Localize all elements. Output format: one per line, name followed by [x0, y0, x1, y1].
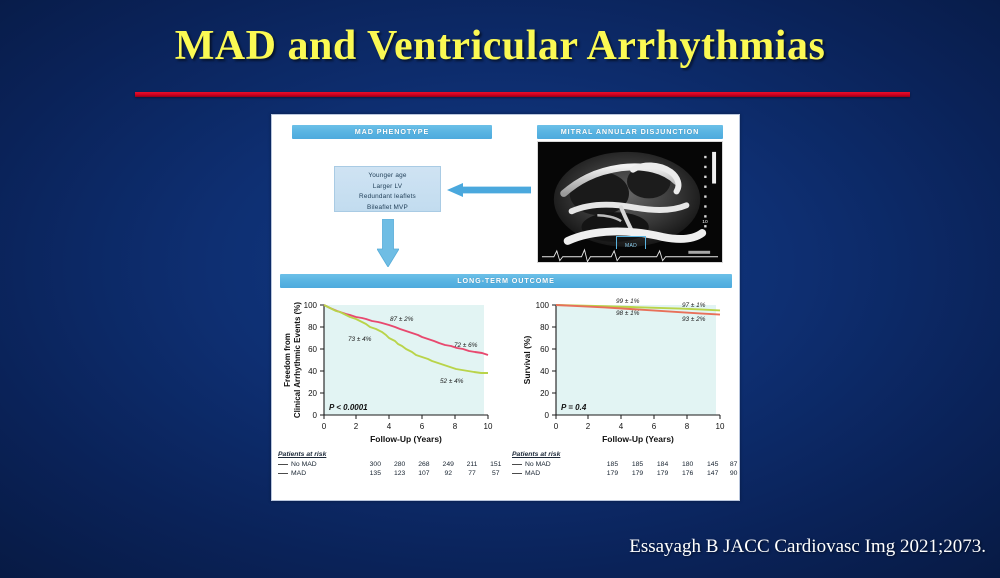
page-title: MAD and Ventricular Arrhythmias: [0, 22, 1000, 70]
legend-dash-no-mad-icon: [278, 464, 288, 465]
risk-cell: 135: [363, 469, 387, 478]
y-tick-0: 0: [313, 411, 318, 420]
x-tick-4: 4: [387, 422, 392, 431]
band-long-term-outcome: LONG-TERM OUTCOME: [280, 274, 732, 288]
phenotype-line-1: Younger age: [335, 171, 440, 182]
x-tick-10: 10: [484, 422, 493, 431]
band-mitral-annular-disjunction: MITRAL ANNULAR DISJUNCTION: [537, 125, 723, 139]
risk-table-title: Patients at risk: [276, 451, 508, 458]
risk-table: No MAD 300 280 268 249 211 151 MAD 135 1…: [276, 460, 508, 478]
x-tick-8: 8: [685, 422, 690, 431]
phenotype-line-2: Larger LV: [335, 182, 440, 193]
y-tick-40: 40: [308, 367, 317, 376]
label-no-mad-mid: 99 ± 1%: [616, 298, 640, 305]
x-tick-8: 8: [453, 422, 458, 431]
x-tick-6: 6: [652, 422, 657, 431]
risk-cell: 179: [600, 469, 625, 478]
risk-cell: 185: [600, 460, 625, 469]
y-axis-label: Survival (%): [522, 336, 532, 385]
risk-cell: 151: [484, 460, 508, 469]
x-tick-2: 2: [586, 422, 591, 431]
risk-cell: 300: [363, 460, 387, 469]
risk-cell: 184: [650, 460, 675, 469]
risk-cell: 77: [460, 469, 483, 478]
y-tick-20: 20: [308, 389, 317, 398]
y-tick-0: 0: [545, 411, 550, 420]
risk-row-label: No MAD: [291, 461, 317, 468]
y-tick-80: 80: [308, 323, 317, 332]
label-mad-mid: 73 ± 4%: [348, 336, 372, 343]
band-mad-phenotype: MAD PHENOTYPE: [292, 125, 492, 139]
label-mad-mid: 98 ± 1%: [616, 310, 640, 317]
x-tick-2: 2: [354, 422, 359, 431]
x-tick-0: 0: [554, 422, 559, 431]
y-tick-80: 80: [540, 323, 549, 332]
risk-cell: 185: [625, 460, 650, 469]
title-divider-rule: [135, 92, 910, 97]
x-tick-10: 10: [716, 422, 725, 431]
risk-cell: 176: [675, 469, 700, 478]
legend-dash-mad-icon: [278, 473, 288, 474]
label-mad-end: 93 ± 2%: [682, 316, 706, 323]
figure-panel: MAD PHENOTYPE MITRAL ANNULAR DISJUNCTION…: [271, 114, 740, 501]
x-axis-label: Follow-Up (Years): [602, 434, 674, 444]
patients-at-risk-right: Patients at risk No MAD 185 185 184 180 …: [510, 451, 740, 478]
echocardiogram-image: 10 MAD: [537, 141, 723, 263]
risk-cell: 179: [650, 469, 675, 478]
risk-cell: 107: [412, 469, 436, 478]
phenotype-line-3: Redundant leaflets: [335, 192, 440, 203]
table-row: MAD 135 123 107 92 77 57: [276, 469, 508, 478]
risk-row-label: No MAD: [525, 461, 551, 468]
table-row: MAD 179 179 179 176 147 90: [510, 469, 740, 478]
phenotype-line-4: Bileaflet MVP: [335, 203, 440, 214]
arrow-down-icon: [377, 219, 399, 267]
table-row: No MAD 300 280 268 249 211 151: [276, 460, 508, 469]
risk-cell: 145: [700, 460, 725, 469]
p-value-annotation: P = 0.4: [561, 403, 587, 412]
risk-table-title: Patients at risk: [510, 451, 740, 458]
arrow-left-icon: [447, 183, 531, 197]
risk-cell: 179: [625, 469, 650, 478]
echo-depth-label: 10: [702, 219, 708, 225]
risk-cell: 90: [725, 469, 740, 478]
y-tick-100: 100: [536, 301, 550, 310]
risk-cell: 92: [436, 469, 460, 478]
risk-row-label: MAD: [525, 470, 540, 477]
risk-cell: 180: [675, 460, 700, 469]
legend-dash-no-mad-icon: [512, 464, 522, 465]
echo-mad-annotation: MAD: [616, 236, 646, 249]
x-tick-0: 0: [322, 422, 327, 431]
x-tick-6: 6: [420, 422, 425, 431]
y-tick-100: 100: [304, 301, 318, 310]
x-tick-4: 4: [619, 422, 624, 431]
y-tick-60: 60: [540, 345, 549, 354]
chart-freedom-from-arrhythmic-events: 100 80 60 40 20 0 0 2 4 6 8 10 Follow-Up…: [278, 297, 502, 445]
label-no-mad-mid: 87 ± 2%: [390, 316, 414, 323]
label-no-mad-end: 97 ± 1%: [682, 302, 706, 309]
y-tick-60: 60: [308, 345, 317, 354]
legend-dash-mad-icon: [512, 473, 522, 474]
patients-at-risk-left: Patients at risk No MAD 300 280 268 249 …: [276, 451, 508, 478]
risk-cell: 123: [387, 469, 411, 478]
table-row: No MAD 185 185 184 180 145 87: [510, 460, 740, 469]
y-tick-40: 40: [540, 367, 549, 376]
risk-cell: 211: [460, 460, 483, 469]
chart-survival: 100 80 60 40 20 0 0 2 4 6 8 10 Follow-Up…: [510, 297, 734, 445]
risk-row-label: MAD: [291, 470, 306, 477]
risk-cell: 268: [412, 460, 436, 469]
p-value-annotation: P < 0.0001: [329, 403, 368, 412]
source-citation: Essayagh B JACC Cardiovasc Img 2021;2073…: [629, 536, 986, 558]
label-mad-end: 52 ± 4%: [440, 378, 464, 385]
risk-cell: 87: [725, 460, 740, 469]
x-axis-label: Follow-Up (Years): [370, 434, 442, 444]
risk-table: No MAD 185 185 184 180 145 87 MAD 179 17…: [510, 460, 740, 478]
risk-cell: 280: [387, 460, 411, 469]
y-tick-20: 20: [540, 389, 549, 398]
risk-cell: 147: [700, 469, 725, 478]
risk-cell: 249: [436, 460, 460, 469]
risk-cell: 57: [484, 469, 508, 478]
label-no-mad-end: 72 ± 6%: [454, 342, 478, 349]
y-axis-label-line2: Clinical Arrhythmic Events (%): [293, 302, 302, 419]
phenotype-feature-box: Younger age Larger LV Redundant leaflets…: [334, 166, 441, 212]
y-axis-label-line1: Freedom from: [283, 333, 292, 387]
